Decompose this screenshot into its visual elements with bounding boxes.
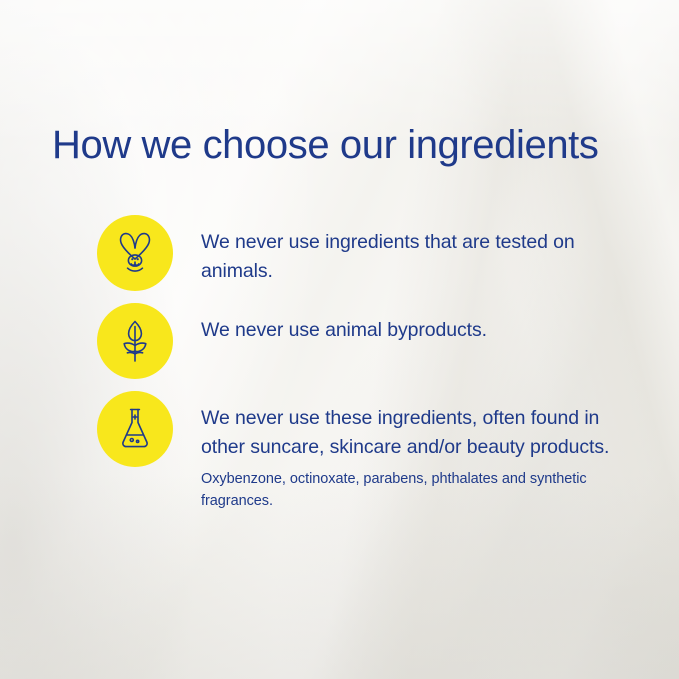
list-item-sub-text: Oxybenzone, octinoxate, parabens, phthal… xyxy=(201,469,637,512)
icon-badge xyxy=(97,303,173,379)
ingredients-info-graphic: How we choose our ingredients xyxy=(0,0,679,679)
leaf-plant-icon xyxy=(115,317,155,365)
icon-badge xyxy=(97,215,173,291)
list-item-text: We never use these ingredients, often fo… xyxy=(201,391,637,512)
rabbit-cruelty-free-icon xyxy=(113,229,157,277)
list-item-main-text: We never use animal byproducts. xyxy=(201,316,487,345)
list-item-text: We never use ingredients that are tested… xyxy=(201,215,637,285)
benefits-list: We never use ingredients that are tested… xyxy=(97,215,637,512)
page-title: How we choose our ingredients xyxy=(52,122,599,168)
list-item-main-text: We never use these ingredients, often fo… xyxy=(201,404,637,461)
list-item: We never use these ingredients, often fo… xyxy=(97,391,637,512)
list-item: We never use animal byproducts. xyxy=(97,303,637,379)
flask-beaker-icon xyxy=(115,405,155,453)
list-item: We never use ingredients that are tested… xyxy=(97,215,637,291)
list-item-text: We never use animal byproducts. xyxy=(201,303,487,345)
list-item-main-text: We never use ingredients that are tested… xyxy=(201,228,637,285)
icon-badge xyxy=(97,391,173,467)
